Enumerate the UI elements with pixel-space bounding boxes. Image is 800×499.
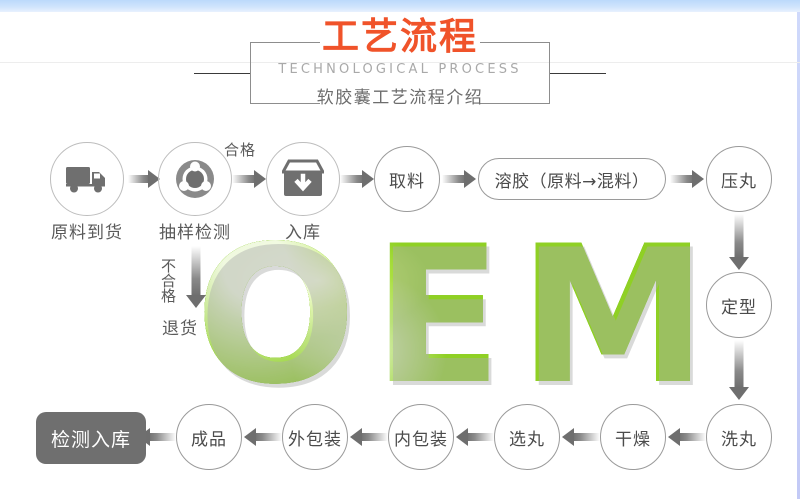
- inbox-icon: [282, 159, 324, 199]
- page-title: 工艺流程: [0, 16, 800, 58]
- header: 工艺流程 TECHNOLOGICAL PROCESS 软胶囊工艺流程介绍: [0, 16, 800, 116]
- oem-watermark: OEM: [195, 228, 705, 403]
- edge-label-fail: 不合格: [158, 258, 179, 303]
- arrow-outer-package-to-finished: [244, 426, 282, 448]
- arrow-drying-to-pill-select: [562, 426, 600, 448]
- arrow-washing-to-drying: [668, 426, 706, 448]
- page-subtitle-cn: 软胶囊工艺流程介绍: [0, 86, 800, 110]
- caption-warehousing: 入库: [226, 218, 380, 243]
- edge-label-pass: 合格: [224, 139, 256, 160]
- arrow-pressing-to-shaping: [727, 214, 751, 270]
- arrow-inner-to-outer-package: [350, 426, 388, 448]
- node-pill-select[interactable]: 选丸: [494, 404, 560, 470]
- node-pressing[interactable]: 压丸: [706, 146, 772, 212]
- node-shaping[interactable]: 定型: [706, 272, 772, 338]
- node-outer-package[interactable]: 外包装: [282, 404, 348, 470]
- arrow-sampling-to-warehousing: [232, 168, 266, 190]
- node-gel-melting[interactable]: 溶胶（原料→混料）: [478, 158, 666, 200]
- node-warehousing[interactable]: [266, 142, 340, 216]
- node-raw-arrival[interactable]: [50, 142, 124, 216]
- arrow-pill-select-to-inner-package: [456, 426, 494, 448]
- arrow-warehousing-to-take-material: [340, 168, 374, 190]
- node-drying[interactable]: 干燥: [600, 404, 666, 470]
- page-subtitle-en: TECHNOLOGICAL PROCESS: [0, 61, 800, 79]
- top-decor-band: [0, 0, 800, 12]
- node-sampling[interactable]: [158, 142, 232, 216]
- node-take-material[interactable]: 取料: [374, 146, 440, 212]
- arrow-shaping-to-washing: [727, 340, 751, 400]
- edge-label-return: 退货: [162, 314, 198, 339]
- node-finished[interactable]: 成品: [176, 404, 242, 470]
- arrow-gel-to-pressing: [670, 168, 704, 190]
- arrow-raw-to-sampling: [128, 168, 160, 190]
- node-washing[interactable]: 洗丸: [706, 404, 772, 470]
- arrow-sampling-to-return: [184, 246, 208, 308]
- truck-icon: [65, 164, 109, 194]
- process-flow-infographic: 工艺流程 TECHNOLOGICAL PROCESS 软胶囊工艺流程介绍 OEM…: [0, 0, 800, 499]
- node-final-check[interactable]: 检测入库: [36, 412, 146, 464]
- node-inner-package[interactable]: 内包装: [388, 404, 454, 470]
- arrow-take-material-to-gel: [442, 168, 476, 190]
- sampling-icon: [173, 157, 217, 201]
